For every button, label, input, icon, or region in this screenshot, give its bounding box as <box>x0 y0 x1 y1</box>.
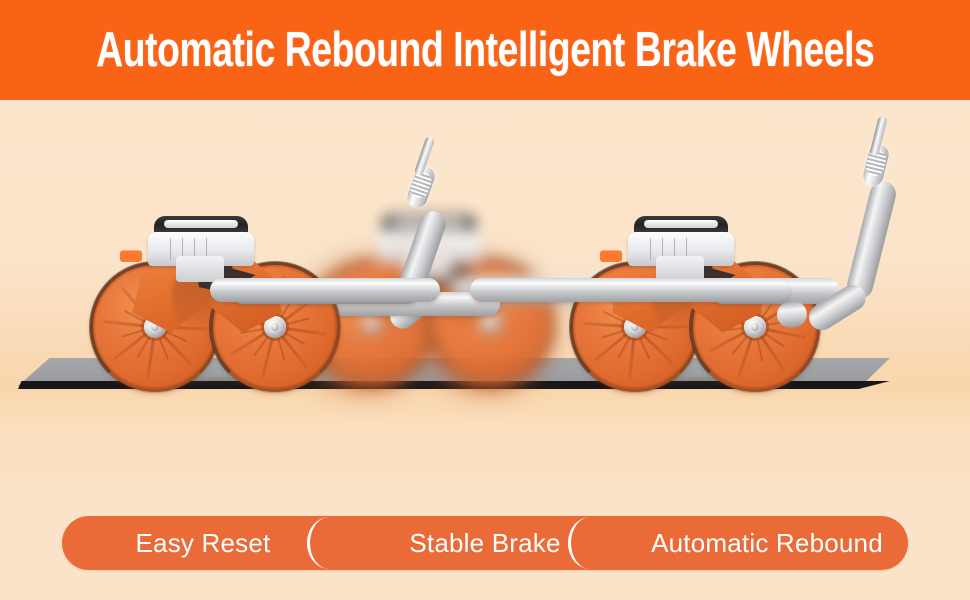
feature-item-stable-brake[interactable]: Stable Brake <box>344 516 626 570</box>
page-title: Automatic Rebound Intelligent Brake Whee… <box>96 26 874 75</box>
product-illustration <box>0 100 970 500</box>
brake-pod <box>146 216 256 278</box>
brake-pod <box>626 216 736 278</box>
feature-label: Automatic Rebound <box>651 528 883 559</box>
feature-pill-bar: Easy Reset Stable Brake Automatic Reboun… <box>62 516 908 570</box>
feature-item-easy-reset[interactable]: Easy Reset <box>62 516 344 570</box>
riser-right <box>760 130 930 330</box>
frame-accent <box>120 250 142 262</box>
feature-item-automatic-rebound[interactable]: Automatic Rebound <box>626 516 908 570</box>
handle-bend-lower <box>776 300 809 329</box>
frame-accent <box>600 250 622 262</box>
feature-label: Stable Brake <box>409 528 560 559</box>
feature-label: Easy Reset <box>136 528 271 559</box>
header-banner: Automatic Rebound Intelligent Brake Whee… <box>0 0 970 100</box>
handle-bend <box>804 280 870 335</box>
handle-shaft-long-right <box>470 278 790 302</box>
handle-tube <box>844 178 898 301</box>
handle-shaft-long <box>210 278 440 302</box>
product-feature-banner: Automatic Rebound Intelligent Brake Whee… <box>0 0 970 600</box>
roller-left <box>80 110 400 410</box>
